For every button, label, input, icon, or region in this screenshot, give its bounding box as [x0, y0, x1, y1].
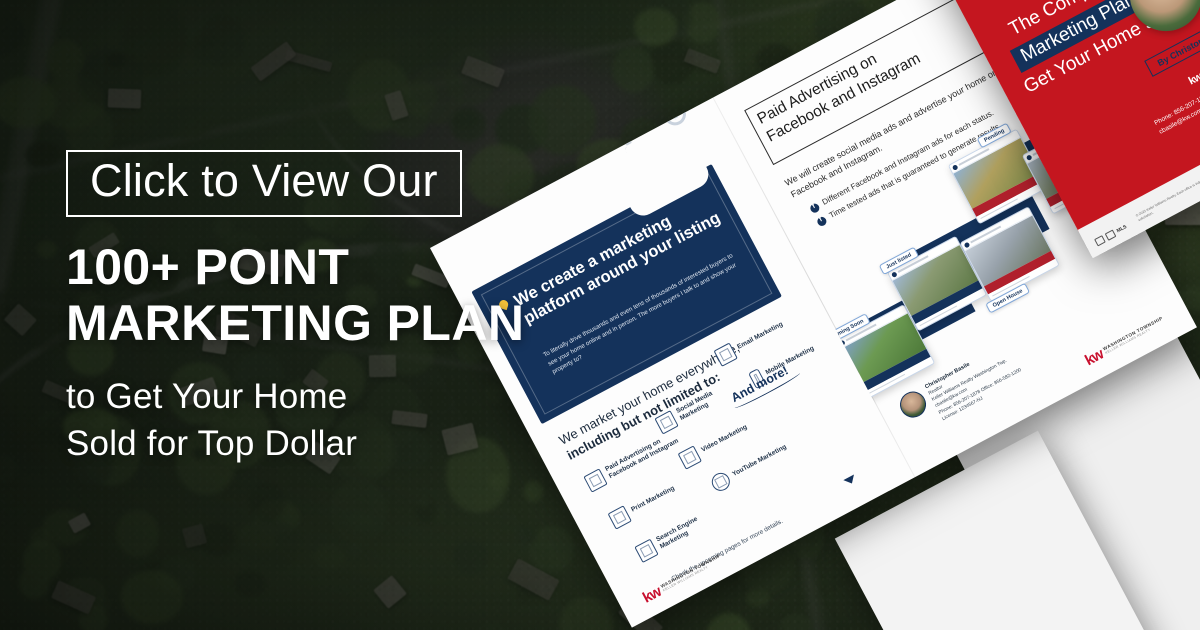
banner-click-target[interactable] — [0, 0, 1200, 630]
promo-banner[interactable]: We create a marketing platform around yo… — [0, 0, 1200, 630]
